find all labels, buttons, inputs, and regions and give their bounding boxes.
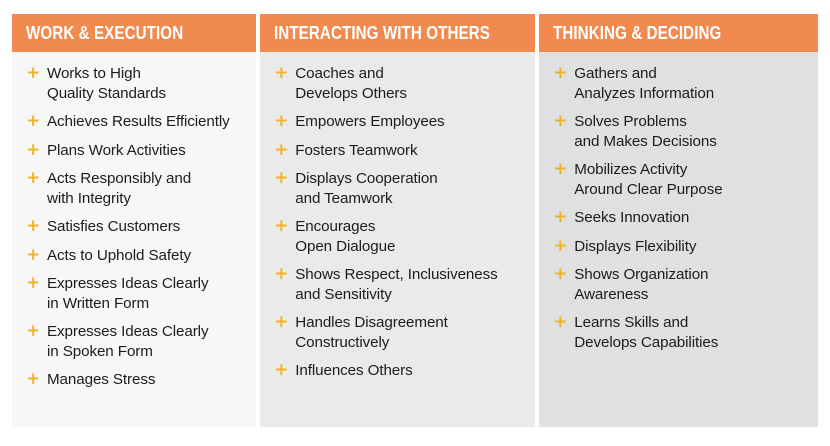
column-thinking-and-deciding: THINKING & DECIDING + Gathers and Analyz…	[539, 14, 818, 427]
list-item-label: Gathers and Analyzes Information	[574, 64, 808, 103]
column-header-thinking-and-deciding: THINKING & DECIDING	[539, 14, 818, 52]
list-item: + Mobilizes Activity Around Clear Purpos…	[553, 160, 808, 199]
list-item-label: Encourages Open Dialogue	[295, 217, 525, 256]
plus-icon: +	[553, 212, 567, 223]
list-item-label: Acts Responsibly and with Integrity	[47, 169, 246, 208]
list-item: + Acts Responsibly and with Integrity	[26, 169, 246, 208]
plus-icon: +	[553, 116, 567, 127]
list-item: + Influences Others	[274, 361, 525, 381]
plus-icon: +	[553, 269, 567, 280]
list-item: + Shows Organization Awareness	[553, 265, 808, 304]
plus-icon: +	[553, 68, 567, 79]
plus-icon: +	[274, 173, 288, 184]
plus-icon: +	[26, 145, 40, 156]
list-item: + Learns Skills and Develops Capabilitie…	[553, 313, 808, 352]
list-item-label: Displays Cooperation and Teamwork	[295, 169, 525, 208]
list-item: + Seeks Innovation	[553, 208, 808, 228]
column-header-interacting-with-others: INTERACTING WITH OTHERS	[260, 14, 535, 52]
list-item-label: Shows Organization Awareness	[574, 265, 808, 304]
list-item-label: Acts to Uphold Safety	[47, 246, 246, 266]
plus-icon: +	[274, 317, 288, 328]
list-item-label: Works to High Quality Standards	[47, 64, 246, 103]
list-item: + Plans Work Activities	[26, 141, 246, 161]
plus-icon: +	[26, 278, 40, 289]
competency-table: WORK & EXECUTION + Works to High Quality…	[12, 14, 818, 427]
list-item-label: Handles Disagreement Constructively	[295, 313, 525, 352]
list-item: + Works to High Quality Standards	[26, 64, 246, 103]
plus-icon: +	[274, 269, 288, 280]
list-item-label: Manages Stress	[47, 370, 246, 390]
list-item-label: Empowers Employees	[295, 112, 525, 132]
list-item: + Displays Flexibility	[553, 237, 808, 257]
list-item-label: Mobilizes Activity Around Clear Purpose	[574, 160, 808, 199]
column-body-thinking-and-deciding: + Gathers and Analyzes Information + Sol…	[539, 52, 818, 427]
plus-icon: +	[274, 221, 288, 232]
list-item-label: Learns Skills and Develops Capabilities	[574, 313, 808, 352]
plus-icon: +	[26, 221, 40, 232]
plus-icon: +	[26, 68, 40, 79]
list-item: + Fosters Teamwork	[274, 141, 525, 161]
list-item: + Satisfies Customers	[26, 217, 246, 237]
column-body-work-and-execution: + Works to High Quality Standards + Achi…	[12, 52, 256, 427]
column-title: INTERACTING WITH OTHERS	[274, 22, 490, 44]
column-title: THINKING & DECIDING	[553, 22, 721, 44]
list-item: + Encourages Open Dialogue	[274, 217, 525, 256]
list-item: + Achieves Results Efficiently	[26, 112, 246, 132]
list-item: + Coaches and Develops Others	[274, 64, 525, 103]
plus-icon: +	[553, 241, 567, 252]
plus-icon: +	[274, 68, 288, 79]
column-work-and-execution: WORK & EXECUTION + Works to High Quality…	[12, 14, 256, 427]
plus-icon: +	[26, 116, 40, 127]
list-item-label: Displays Flexibility	[574, 237, 808, 257]
list-item: + Displays Cooperation and Teamwork	[274, 169, 525, 208]
list-item-label: Seeks Innovation	[574, 208, 808, 228]
plus-icon: +	[274, 116, 288, 127]
plus-icon: +	[26, 374, 40, 385]
plus-icon: +	[26, 326, 40, 337]
plus-icon: +	[26, 250, 40, 261]
list-item: + Shows Respect, Inclusiveness and Sensi…	[274, 265, 525, 304]
list-item-label: Expresses Ideas Clearly in Spoken Form	[47, 322, 246, 361]
plus-icon: +	[274, 365, 288, 376]
list-item: + Acts to Uphold Safety	[26, 246, 246, 266]
column-body-interacting-with-others: + Coaches and Develops Others + Empowers…	[260, 52, 535, 427]
list-item: + Expresses Ideas Clearly in Written For…	[26, 274, 246, 313]
list-item-label: Coaches and Develops Others	[295, 64, 525, 103]
list-item-label: Shows Respect, Inclusiveness and Sensiti…	[295, 265, 525, 304]
plus-icon: +	[553, 164, 567, 175]
list-item-label: Achieves Results Efficiently	[47, 112, 246, 132]
list-item-label: Influences Others	[295, 361, 525, 381]
list-item: + Empowers Employees	[274, 112, 525, 132]
list-item-label: Expresses Ideas Clearly in Written Form	[47, 274, 246, 313]
list-item-label: Satisfies Customers	[47, 217, 246, 237]
list-item: + Handles Disagreement Constructively	[274, 313, 525, 352]
list-item-label: Plans Work Activities	[47, 141, 246, 161]
column-title: WORK & EXECUTION	[26, 22, 183, 44]
column-header-work-and-execution: WORK & EXECUTION	[12, 14, 256, 52]
plus-icon: +	[274, 145, 288, 156]
list-item: + Gathers and Analyzes Information	[553, 64, 808, 103]
list-item-label: Solves Problems and Makes Decisions	[574, 112, 808, 151]
list-item: + Manages Stress	[26, 370, 246, 390]
plus-icon: +	[26, 173, 40, 184]
plus-icon: +	[553, 317, 567, 328]
list-item: + Expresses Ideas Clearly in Spoken Form	[26, 322, 246, 361]
list-item-label: Fosters Teamwork	[295, 141, 525, 161]
column-interacting-with-others: INTERACTING WITH OTHERS + Coaches and De…	[260, 14, 535, 427]
list-item: + Solves Problems and Makes Decisions	[553, 112, 808, 151]
